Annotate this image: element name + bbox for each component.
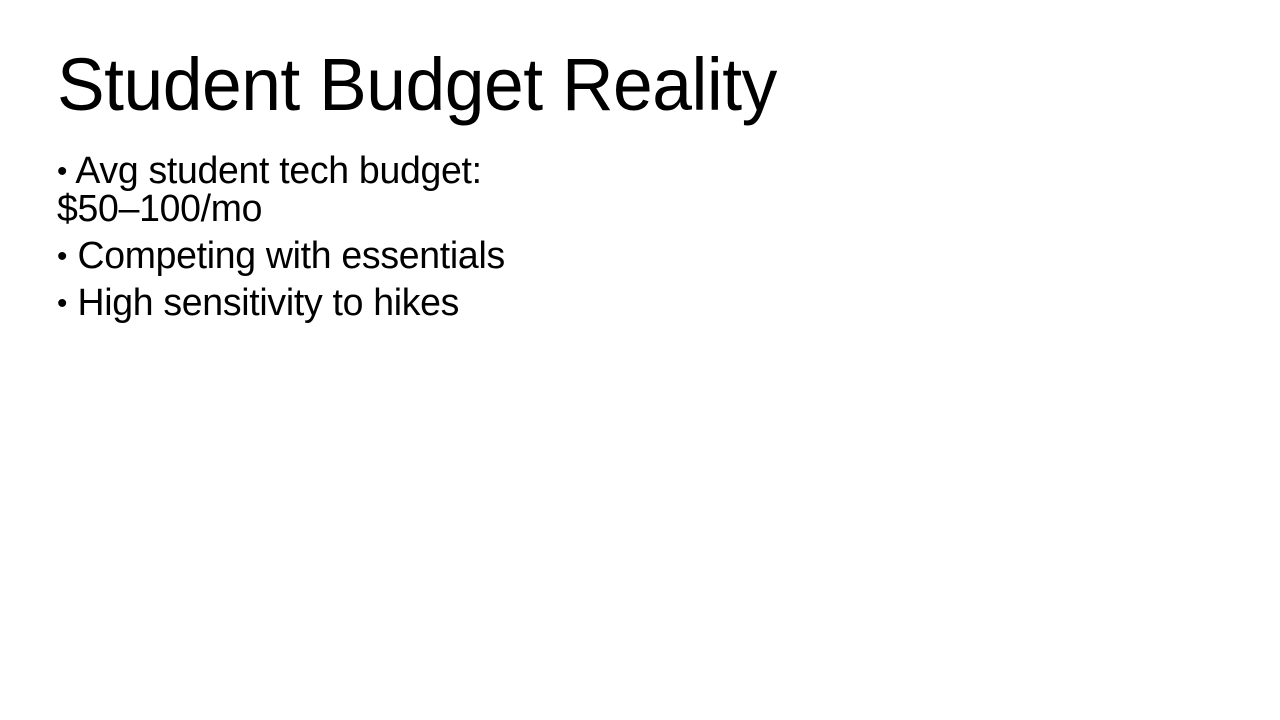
bullet-point-icon: • bbox=[57, 155, 67, 188]
bullet-point-icon: • bbox=[57, 287, 67, 320]
bullet-point-icon: • bbox=[57, 240, 67, 273]
list-item: • High sensitivity to hikes bbox=[57, 284, 561, 322]
page-title: Student Budget Reality bbox=[57, 48, 1022, 122]
slide-canvas: Student Budget Reality • Avg student tec… bbox=[0, 0, 1280, 720]
list-item-label: High sensitivity to hikes bbox=[77, 282, 459, 324]
list-item: • Avg student tech budget: $50–100/mo bbox=[57, 152, 561, 228]
list-item-label: Competing with essentials bbox=[77, 235, 504, 277]
bullet-list: • Avg student tech budget: $50–100/mo • … bbox=[57, 152, 569, 322]
list-item-label: Avg student tech budget: $50–100/mo bbox=[57, 150, 482, 230]
list-item: • Competing with essentials bbox=[57, 237, 561, 275]
